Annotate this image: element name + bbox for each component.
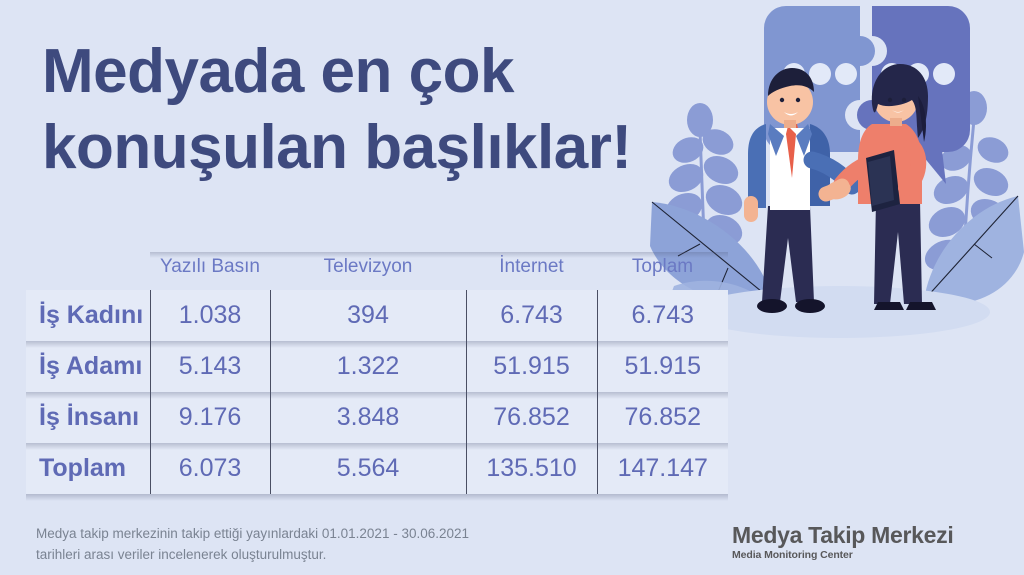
table-body: İş Kadını 1.038 394 6.743 6.743 İş Adamı… (26, 290, 728, 494)
businessman-figure (744, 68, 852, 313)
cell-toplam-televizyon: 5.564 (270, 443, 466, 494)
cell-is-adami-televizyon: 1.322 (270, 341, 466, 392)
cell-toplam-toplam: 147.147 (597, 443, 728, 494)
cell-is-kadini-toplam: 6.743 (597, 290, 728, 341)
table-row: İş Kadını 1.038 394 6.743 6.743 (26, 290, 728, 341)
cell-is-kadini-televizyon: 394 (270, 290, 466, 341)
infographic-canvas: Medyada en çok konuşulan başlıklar! Yazı… (0, 0, 1024, 575)
cell-toplam-yazili-basin: 6.073 (150, 443, 270, 494)
logo-tagline: Media Monitoring Center (732, 549, 1002, 561)
cell-is-insani-yazili-basin: 9.176 (150, 392, 270, 443)
row-label-is-adami: İş Adamı (26, 341, 150, 392)
businesswoman-figure (823, 64, 936, 310)
cell-is-adami-internet: 51.915 (466, 341, 597, 392)
cell-is-insani-televizyon: 3.848 (270, 392, 466, 443)
logo-name: Medya Takip Merkezi (732, 523, 1002, 547)
cell-is-kadini-yazili-basin: 1.038 (150, 290, 270, 341)
statistics-table: Yazılı Basın Televizyon İnternet Toplam … (26, 252, 728, 494)
row-label-is-kadini: İş Kadını (26, 290, 150, 341)
page-title: Medyada en çok konuşulan başlıklar! (42, 34, 742, 185)
cell-is-insani-internet: 76.852 (466, 392, 597, 443)
column-header-yazili-basin: Yazılı Basın (150, 252, 270, 290)
row-label-toplam: Toplam (26, 443, 150, 494)
table-row: İş İnsanı 9.176 3.848 76.852 76.852 (26, 392, 728, 443)
table-row: İş Adamı 5.143 1.322 51.915 51.915 (26, 341, 728, 392)
table-header-row: Yazılı Basın Televizyon İnternet Toplam (26, 252, 728, 290)
ground-shadow (690, 286, 990, 338)
column-header-toplam: Toplam (597, 252, 728, 290)
column-header-televizyon: Televizyon (270, 252, 466, 290)
leaf-right-icon (924, 196, 1024, 304)
cell-is-kadini-internet: 6.743 (466, 290, 597, 341)
cell-toplam-internet: 135.510 (466, 443, 597, 494)
column-header-internet: İnternet (466, 252, 597, 290)
row-label-is-insani: İş İnsanı (26, 392, 150, 443)
brand-logo: Medya Takip Merkezi Media Monitoring Cen… (732, 523, 1002, 561)
statistics-table-wrapper: Yazılı Basın Televizyon İnternet Toplam … (26, 252, 728, 494)
row-divider-shadow (26, 494, 728, 501)
fern-right-icon (920, 91, 1013, 300)
table-header: Yazılı Basın Televizyon İnternet Toplam (26, 252, 728, 290)
cell-is-adami-yazili-basin: 5.143 (150, 341, 270, 392)
speech-bubble-right-icon (857, 6, 970, 184)
cell-is-insani-toplam: 76.852 (597, 392, 728, 443)
table-row: Toplam 6.073 5.564 135.510 147.147 (26, 443, 728, 494)
source-footnote: Medya takip merkezinin takip ettiği yayı… (36, 524, 596, 566)
header-corner (26, 252, 150, 290)
speech-bubble-left-icon (764, 6, 875, 184)
cell-is-adami-toplam: 51.915 (597, 341, 728, 392)
